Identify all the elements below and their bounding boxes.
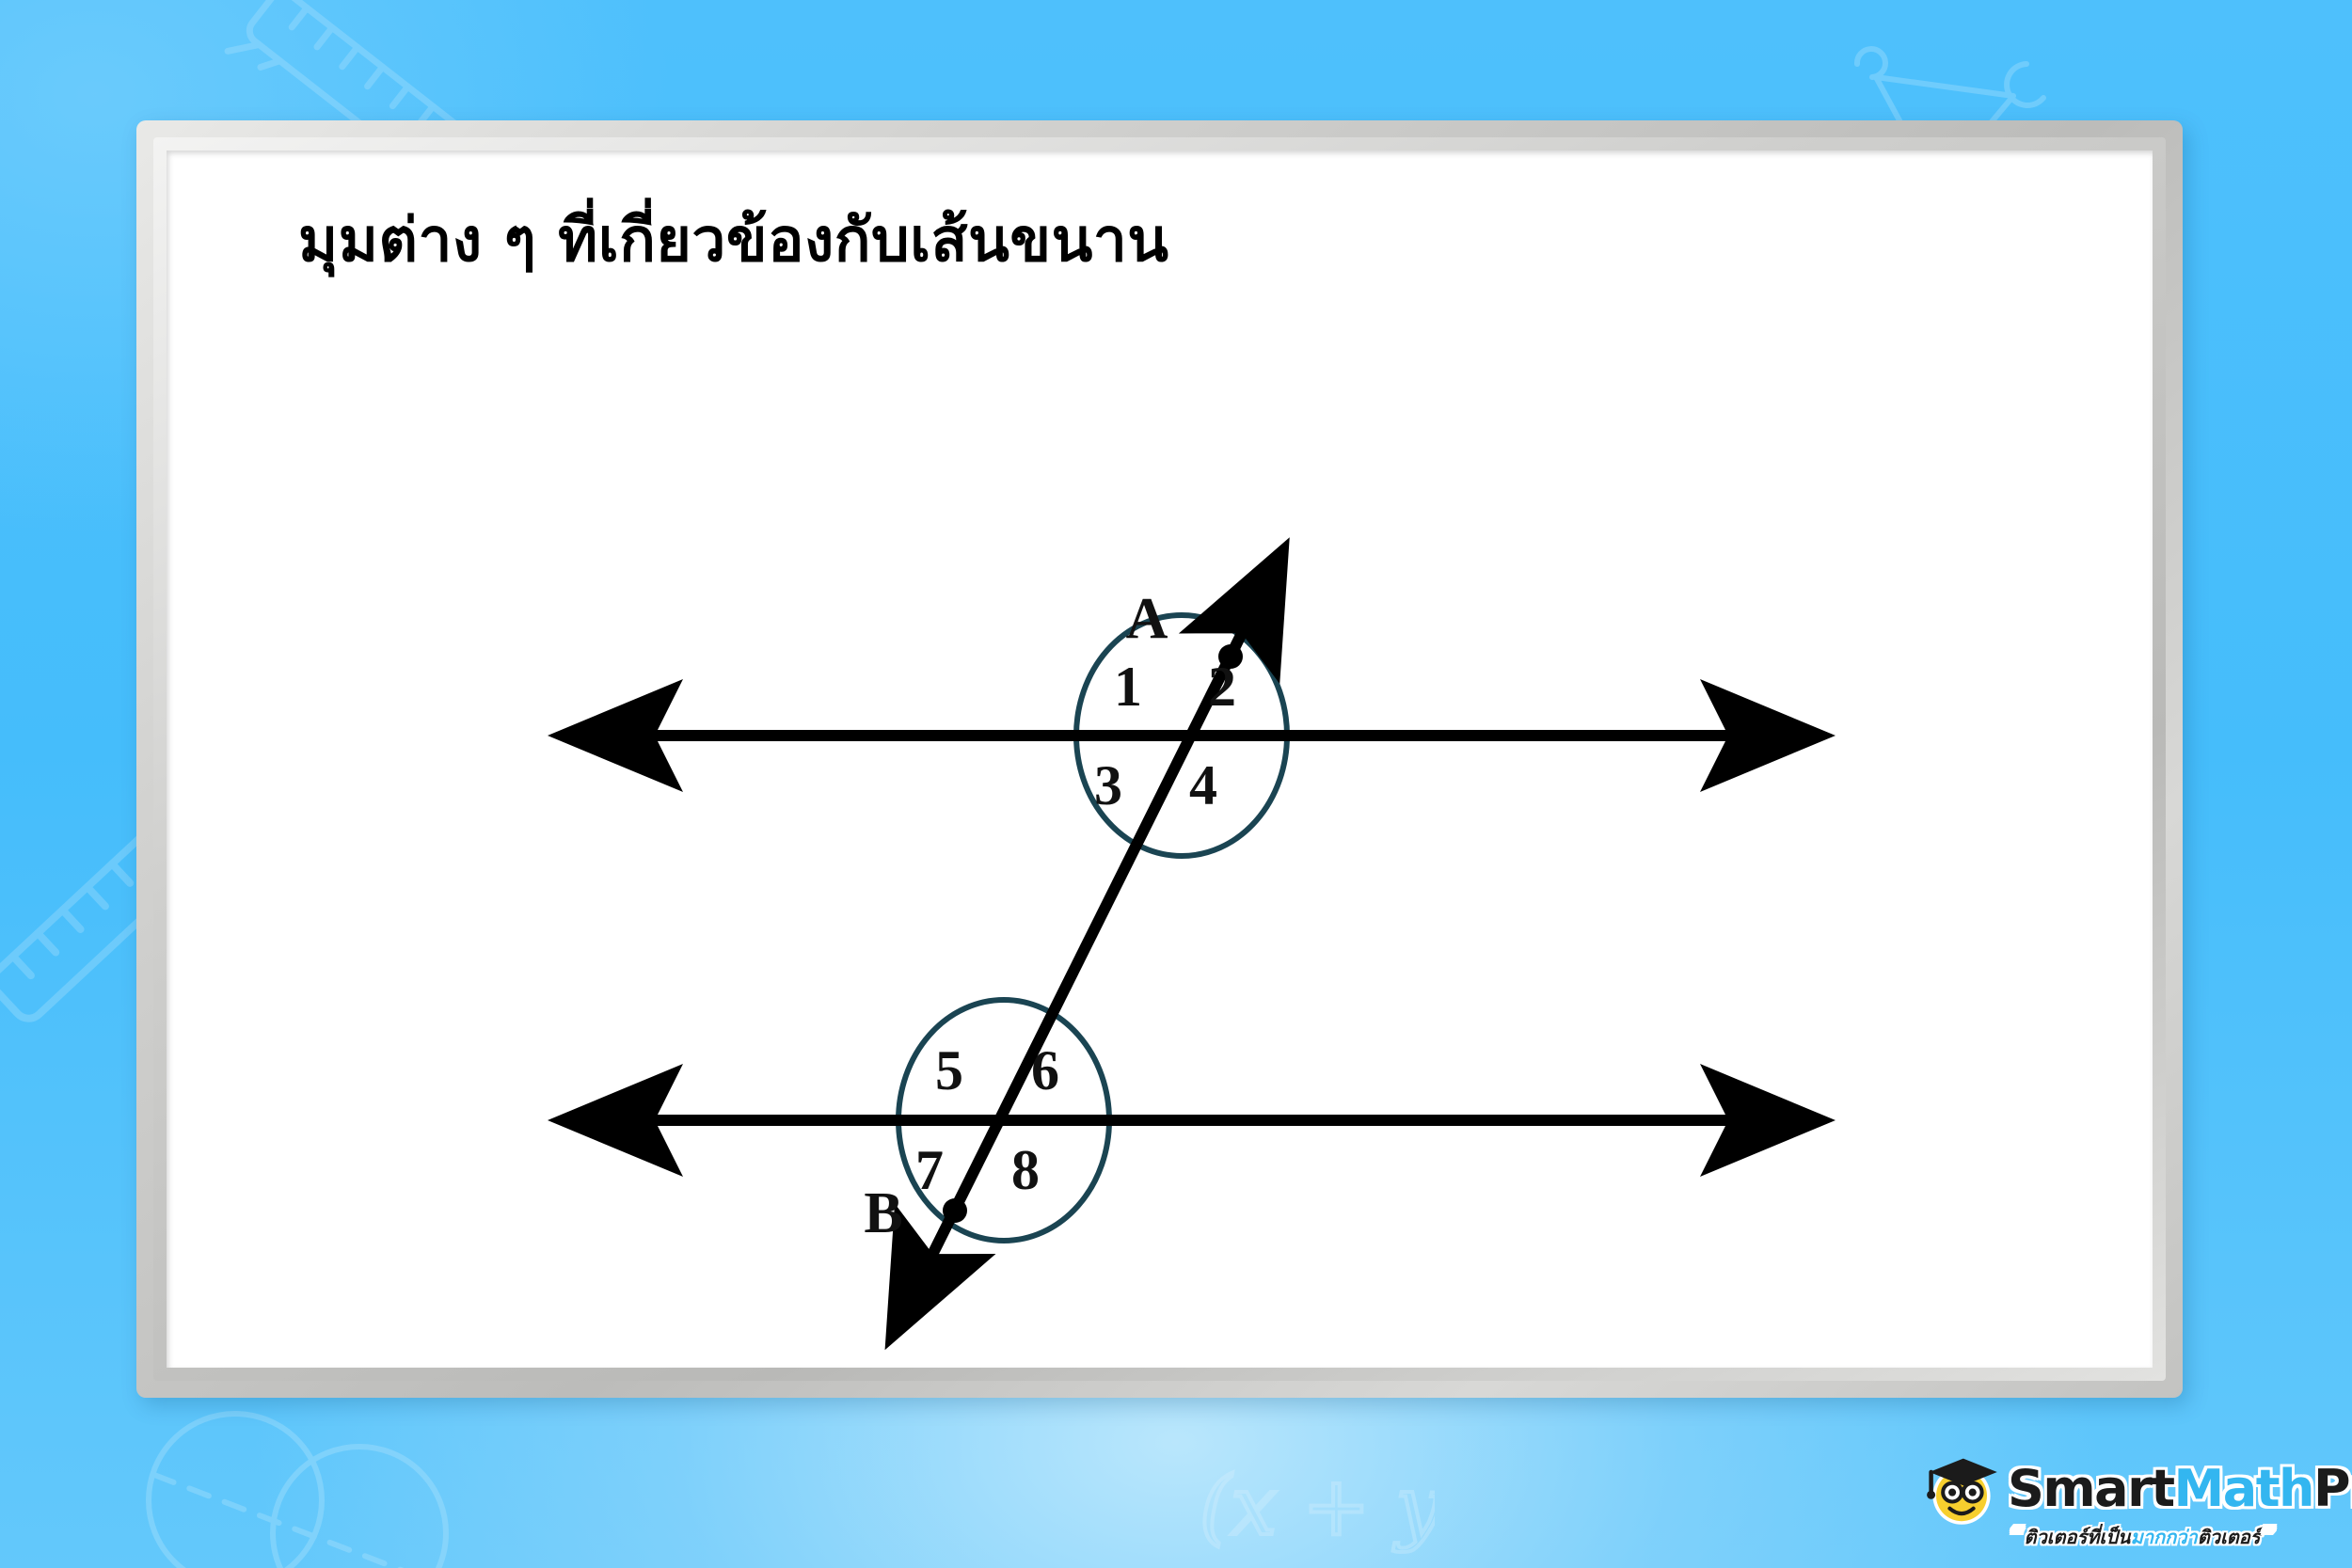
- angle-label-6: 6: [1031, 1039, 1059, 1101]
- angle-label-7: 7: [915, 1139, 944, 1201]
- logo-word-math: Math: [2174, 1459, 2313, 1518]
- point-b-dot: [943, 1198, 967, 1223]
- tagline-part-1: ติวเตอร์ที่เป็น: [2024, 1526, 2130, 1548]
- slide-canvas: (x + y) มุมต่าง ๆ ที่เกี่ยวข้องกับเส้นขน…: [0, 0, 2352, 1568]
- point-label-b: B: [864, 1181, 902, 1245]
- logo-row: SmartMathPro: [1919, 1447, 2352, 1531]
- geometry-figure: A B 1 2 3 4 5 6 7 8: [167, 150, 2153, 1368]
- point-label-a: A: [1126, 587, 1168, 651]
- angle-label-2: 2: [1208, 656, 1236, 718]
- smartmathpro-logo: SmartMathPro “ติวเตอร์ที่เป็นมากกว่าติวเ…: [1919, 1447, 2333, 1560]
- angle-label-4: 4: [1189, 754, 1217, 816]
- angle-label-8: 8: [1011, 1139, 1040, 1201]
- angle-label-5: 5: [935, 1039, 963, 1101]
- logo-word-pro: Pro: [2313, 1459, 2352, 1518]
- logo-wordmark: SmartMathPro: [2008, 1464, 2352, 1514]
- tagline-part-3: ติวเตอร์: [2198, 1526, 2261, 1548]
- whiteboard-surface: มุมต่าง ๆ ที่เกี่ยวข้องกับเส้นขนาน: [167, 150, 2153, 1368]
- whiteboard-frame: มุมต่าง ๆ ที่เกี่ยวข้องกับเส้นขนาน: [136, 120, 2183, 1398]
- angle-label-3: 3: [1094, 754, 1122, 816]
- parallel-lines-diagram: A B 1 2 3 4 5 6 7 8: [167, 150, 2147, 1362]
- tagline-part-2: มากกว่า: [2131, 1526, 2198, 1548]
- logo-word-smart: Smart: [2008, 1459, 2174, 1518]
- logo-tagline: “ติวเตอร์ที่เป็นมากกว่าติวเตอร์”: [1987, 1522, 2297, 1552]
- angle-label-1: 1: [1114, 656, 1142, 718]
- tagline-open-quote: “: [2009, 1522, 2025, 1550]
- graduate-face-icon: [1919, 1447, 2004, 1531]
- tagline-close-quote: ”: [2261, 1522, 2277, 1550]
- whiteboard-inner-bevel: มุมต่าง ๆ ที่เกี่ยวข้องกับเส้นขนาน: [153, 137, 2166, 1381]
